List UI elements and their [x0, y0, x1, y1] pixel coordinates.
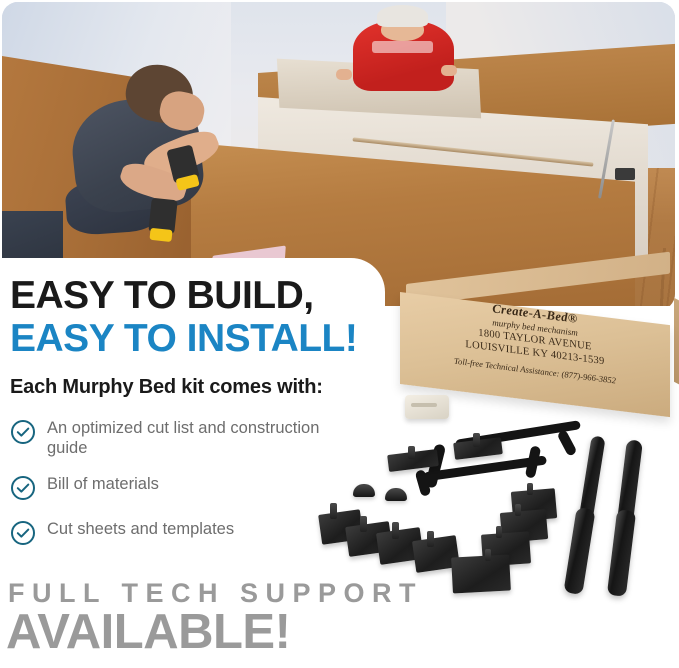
boy-hand-left	[336, 69, 352, 80]
headline-line-1: EASY TO BUILD,	[10, 276, 430, 315]
list-item: Bill of materials	[10, 474, 340, 501]
cordless-drill-2	[148, 198, 177, 235]
dome-cap-left-icon	[353, 484, 375, 497]
check-circle-icon	[10, 475, 36, 501]
footer-line-2: AVAILABLE!	[6, 608, 290, 657]
mounting-plate-4	[451, 555, 511, 594]
power-cord	[615, 168, 635, 180]
man-with-drill	[63, 57, 231, 248]
check-circle-icon	[10, 520, 36, 546]
pivot-stud-2	[408, 446, 415, 459]
feature-list: An optimized cut list and construction g…	[10, 418, 340, 562]
leg-stud-2	[360, 516, 367, 532]
headline-line-2: EASY TO INSTALL!	[10, 319, 430, 360]
pivot-stud-1	[473, 433, 480, 447]
hoodie-graphic	[372, 41, 432, 53]
list-item: Cut sheets and templates	[10, 519, 340, 546]
headline-block: EASY TO BUILD, EASY TO INSTALL!	[10, 276, 430, 360]
boy-cap	[377, 5, 429, 27]
boy-in-red-hoodie	[349, 5, 457, 91]
product-infographic: Create-A-Bed® murphy bed mechanism 1800 …	[0, 0, 679, 668]
boy-hand-right	[441, 65, 457, 76]
list-item: An optimized cut list and construction g…	[10, 418, 340, 458]
check-circle-icon	[10, 419, 36, 445]
list-item-label: Cut sheets and templates	[47, 519, 234, 539]
mounting-stud-1	[527, 483, 533, 495]
carton-right-edge	[674, 298, 679, 391]
leg-stud-4	[427, 531, 434, 547]
leg-stud-3	[392, 522, 399, 539]
mounting-stud-3	[496, 526, 502, 538]
mounting-stud-2	[515, 504, 521, 516]
list-item-label: Bill of materials	[47, 474, 159, 494]
mounting-stud-4	[485, 549, 491, 561]
product-carton: Create-A-Bed® murphy bed mechanism 1800 …	[400, 284, 676, 400]
list-item-label: An optimized cut list and construction g…	[47, 418, 340, 458]
nylon-glide-block-icon	[405, 395, 449, 419]
subheadline: Each Murphy Bed kit comes with:	[10, 376, 323, 399]
dome-cap-right-icon	[385, 488, 407, 501]
